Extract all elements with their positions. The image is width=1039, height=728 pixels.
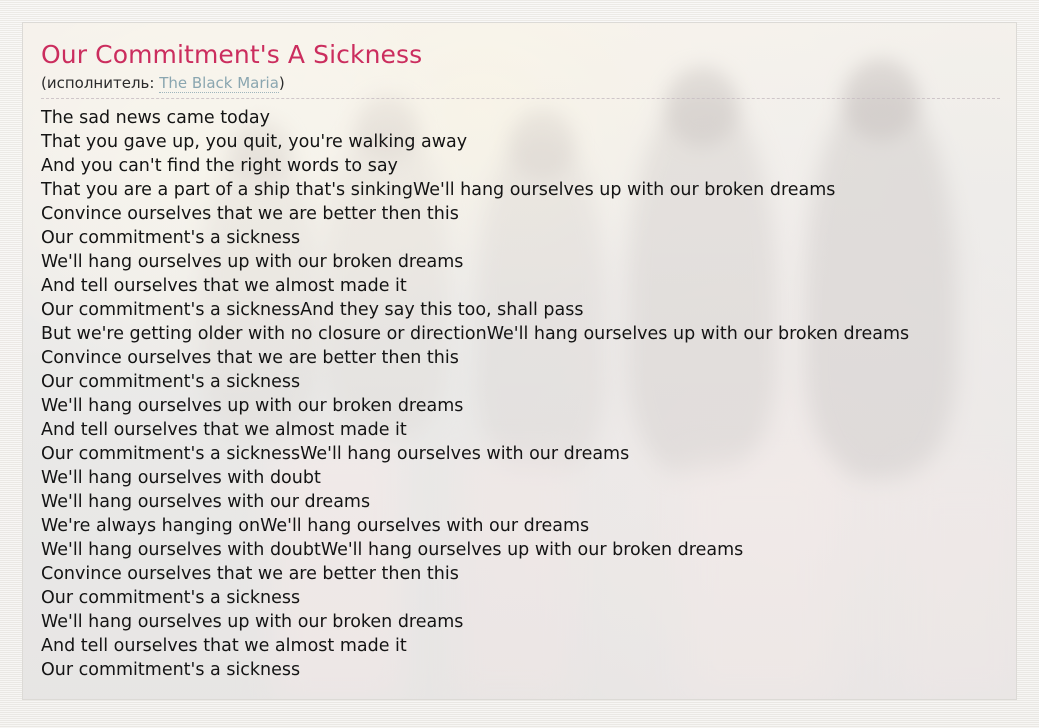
lyric-line: Our commitment's a sickness xyxy=(41,658,1018,682)
lyric-line: Our commitment's a sicknessAnd they say … xyxy=(41,298,1018,322)
page-title: Our Commitment's A Sickness xyxy=(41,39,1018,71)
lyric-line: We'll hang ourselves with our dreams xyxy=(41,490,1018,514)
lyric-line: Convince ourselves that we are better th… xyxy=(41,346,1018,370)
lyric-line: Our commitment's a sicknessWe'll hang ou… xyxy=(41,442,1018,466)
page-frame: Our Commitment's A Sickness (исполнитель… xyxy=(0,0,1039,728)
lyric-line: And you can't find the right words to sa… xyxy=(41,154,1018,178)
lyric-line: But we're getting older with no closure … xyxy=(41,322,1018,346)
lyric-line: Our commitment's a sickness xyxy=(41,370,1018,394)
artist-label-suffix: ) xyxy=(279,74,285,92)
lyric-line: And tell ourselves that we almost made i… xyxy=(41,634,1018,658)
lyric-line: We'll hang ourselves up with our broken … xyxy=(41,250,1018,274)
artist-link[interactable]: The Black Maria xyxy=(159,74,279,93)
lyric-line: We'll hang ourselves up with our broken … xyxy=(41,394,1018,418)
header-divider xyxy=(41,98,1000,99)
lyrics-body: The sad news came todayThat you gave up,… xyxy=(41,106,1018,682)
lyric-line: Our commitment's a sickness xyxy=(41,586,1018,610)
lyric-line: That you gave up, you quit, you're walki… xyxy=(41,130,1018,154)
song-content: Our Commitment's A Sickness (исполнитель… xyxy=(23,23,1018,682)
lyric-line: Convince ourselves that we are better th… xyxy=(41,202,1018,226)
lyric-line: Convince ourselves that we are better th… xyxy=(41,562,1018,586)
lyric-line: And tell ourselves that we almost made i… xyxy=(41,418,1018,442)
lyric-line: We'll hang ourselves with doubt xyxy=(41,466,1018,490)
lyric-line: We're always hanging onWe'll hang oursel… xyxy=(41,514,1018,538)
artist-label-prefix: (исполнитель: xyxy=(41,74,159,92)
lyric-line: That you are a part of a ship that's sin… xyxy=(41,178,1018,202)
song-content-card: Our Commitment's A Sickness (исполнитель… xyxy=(22,22,1017,700)
lyric-line: We'll hang ourselves up with our broken … xyxy=(41,610,1018,634)
artist-line: (исполнитель: The Black Maria) xyxy=(41,73,1018,93)
lyric-line: We'll hang ourselves with doubtWe'll han… xyxy=(41,538,1018,562)
lyric-line: Our commitment's a sickness xyxy=(41,226,1018,250)
lyric-line: And tell ourselves that we almost made i… xyxy=(41,274,1018,298)
lyric-line: The sad news came today xyxy=(41,106,1018,130)
